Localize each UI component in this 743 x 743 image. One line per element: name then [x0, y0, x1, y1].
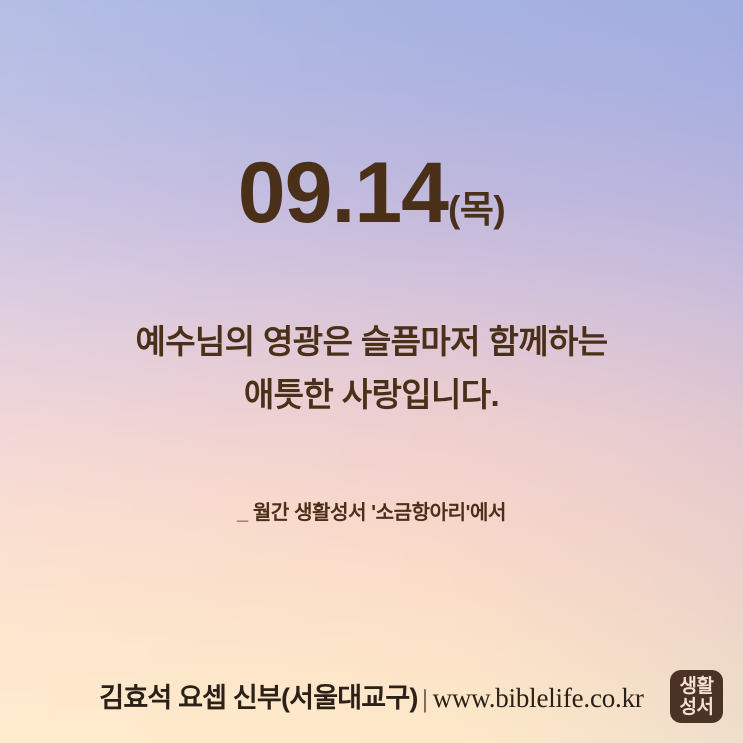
- footer-url[interactable]: www.biblelife.co.kr: [433, 683, 644, 713]
- quote-text: 예수님의 영광은 슬픔마저 함께하는 애틋한 사랑입니다.: [0, 315, 743, 422]
- date-weekday: (목): [448, 189, 505, 230]
- footer-credit: 김효석 요셉 신부(서울대교구)|www.biblelife.co.kr: [0, 676, 743, 715]
- footer-author: 김효석 요셉 신부(서울대교구): [99, 683, 417, 713]
- biblelife-logo[interactable]: 생활 성서: [670, 670, 723, 723]
- quote-line-1: 예수님의 영광은 슬픔마저 함께하는: [0, 315, 743, 368]
- date-heading: 09.14(목): [0, 150, 743, 236]
- attribution-text: _ 월간 생활성서 '소금항아리'에서: [0, 496, 743, 525]
- logo-line-1: 생활: [680, 676, 714, 697]
- quote-line-2: 애틋한 사랑입니다.: [0, 368, 743, 421]
- footer-separator: |: [418, 686, 433, 713]
- logo-line-2: 성서: [680, 697, 714, 718]
- date-value: 09.14: [238, 145, 448, 241]
- daily-scripture-card: 09.14(목) 예수님의 영광은 슬픔마저 함께하는 애틋한 사랑입니다. _…: [0, 0, 743, 743]
